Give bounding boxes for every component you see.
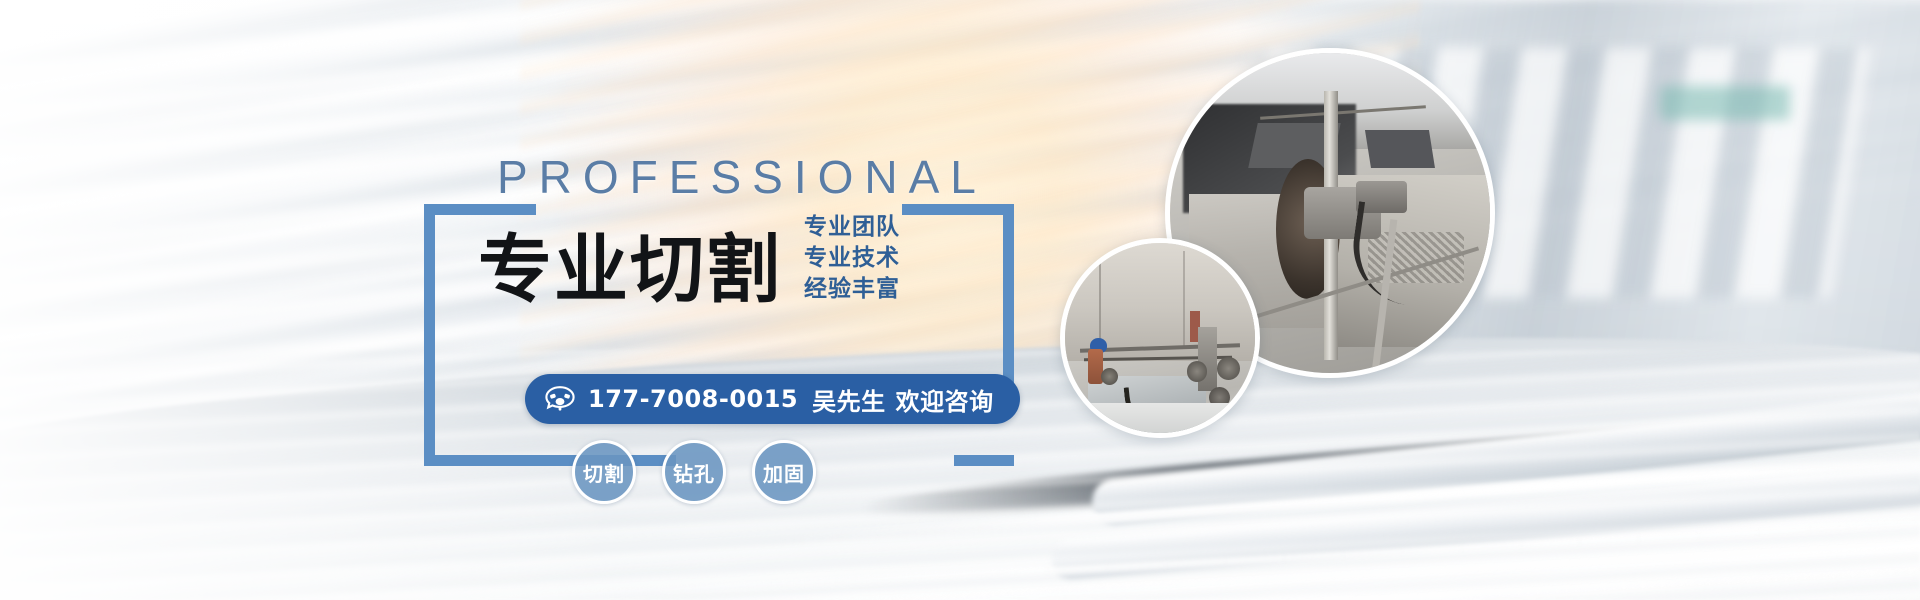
bracket-right-vertical xyxy=(1003,204,1014,386)
selling-point-1: 专业团队 xyxy=(804,214,900,241)
selling-point-3: 经验丰富 xyxy=(804,276,900,303)
worksite-photo-content xyxy=(1065,243,1255,433)
contact-person-name: 吴先生 xyxy=(812,382,886,417)
headline-chinese: 专业切割 xyxy=(478,233,782,307)
bracket-top-right-horizontal xyxy=(902,204,1014,215)
photo-small-cutting-rig xyxy=(1198,327,1217,392)
photo-small-wall-seam-right xyxy=(1183,251,1185,350)
hero-banner: PROFESSIONAL 专业切割 专业团队 专业技术 经验丰富 177-700… xyxy=(0,0,1920,600)
contact-phone-bar[interactable]: 177-7008-0015 吴先生 欢迎咨询 xyxy=(525,374,1020,424)
bracket-bottom-right-horizontal xyxy=(954,455,1014,466)
photo-large-hopper-right xyxy=(1365,130,1435,168)
background-green-sign xyxy=(1660,86,1790,120)
photo-small-floor xyxy=(1065,403,1255,433)
service-tag-reinforcement[interactable]: 加固 xyxy=(752,440,816,504)
service-tag-cutting[interactable]: 切割 xyxy=(572,440,636,504)
service-tag-list: 切割 钻孔 加固 xyxy=(572,440,816,504)
headline-english: PROFESSIONAL xyxy=(497,150,987,204)
photo-small-blade-2 xyxy=(1217,357,1240,380)
contact-phone-number: 177-7008-0015 xyxy=(588,385,798,413)
contact-cta-text: 欢迎咨询 xyxy=(896,382,994,417)
headline-group: 专业切割 专业团队 专业技术 经验丰富 xyxy=(478,214,900,307)
telephone-icon xyxy=(545,386,575,412)
selling-point-2: 专业技术 xyxy=(804,245,900,272)
service-tag-drilling[interactable]: 钻孔 xyxy=(662,440,726,504)
photo-small-blade-1 xyxy=(1187,361,1208,382)
concrete-cutting-worksite-photo xyxy=(1060,238,1260,438)
bracket-left-vertical xyxy=(424,204,435,466)
selling-points-list: 专业团队 专业技术 经验丰富 xyxy=(804,214,900,303)
